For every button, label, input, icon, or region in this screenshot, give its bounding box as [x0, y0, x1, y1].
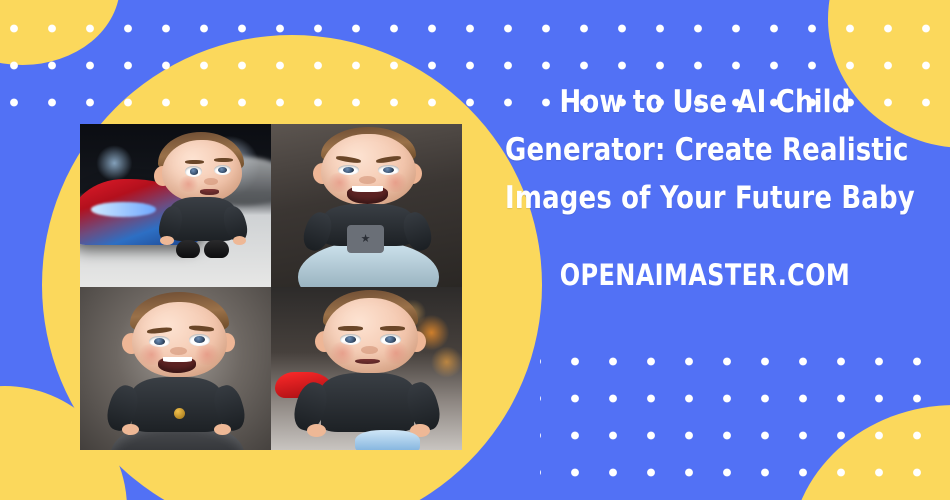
collage-photo-bottom-right	[271, 287, 462, 450]
blog-thumbnail-canvas: ★	[0, 0, 950, 500]
title-line-1: How to Use AI Child	[505, 78, 905, 126]
decor-blob-bottom-right	[790, 405, 950, 500]
collage-photo-top-left	[80, 124, 271, 287]
collage-photo-top-right: ★	[271, 124, 462, 287]
text-column: How to Use AI Child Generator: Create Re…	[490, 78, 920, 292]
title-line-2: Generator: Create Realistic	[505, 126, 905, 174]
shirt-badge: ★	[347, 225, 383, 253]
baby-image-collage: ★	[80, 124, 462, 450]
decor-blob-top-left	[0, 0, 120, 65]
title-line-3: Images of Your Future Baby	[505, 174, 905, 222]
site-url-label: OPENAIMASTER.COM	[507, 258, 903, 292]
collage-photo-bottom-left	[80, 287, 271, 450]
page-title: How to Use AI Child Generator: Create Re…	[505, 78, 905, 222]
